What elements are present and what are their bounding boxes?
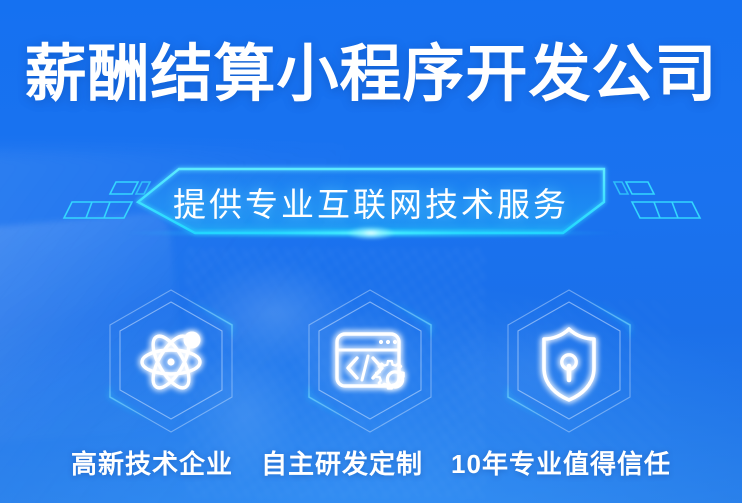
page-title: 薪酬结算小程序开发公司 (0, 44, 742, 106)
feature-label-0: 高新技术企业 (71, 444, 233, 481)
lens-flare-core (340, 224, 402, 242)
feature-label-1: 自主研发定制 (261, 444, 423, 481)
chevron-decoration-right (610, 180, 706, 226)
chevron-decoration-left (58, 180, 154, 226)
promo-banner: 薪酬结算小程序开发公司 提供专业互联网技术服务 (0, 0, 742, 503)
feature-label-row: 高新技术企业 自主研发定制 10年专业值得信任 (0, 442, 742, 482)
feature-hex-code-window (295, 286, 445, 436)
feature-icon-row (0, 286, 742, 436)
feature-hex-atom (96, 286, 246, 436)
feature-label-2: 10年专业值得信任 (451, 444, 671, 481)
feature-hex-shield (494, 286, 644, 436)
subtitle-banner: 提供专业互联网技术服务 (0, 168, 742, 240)
